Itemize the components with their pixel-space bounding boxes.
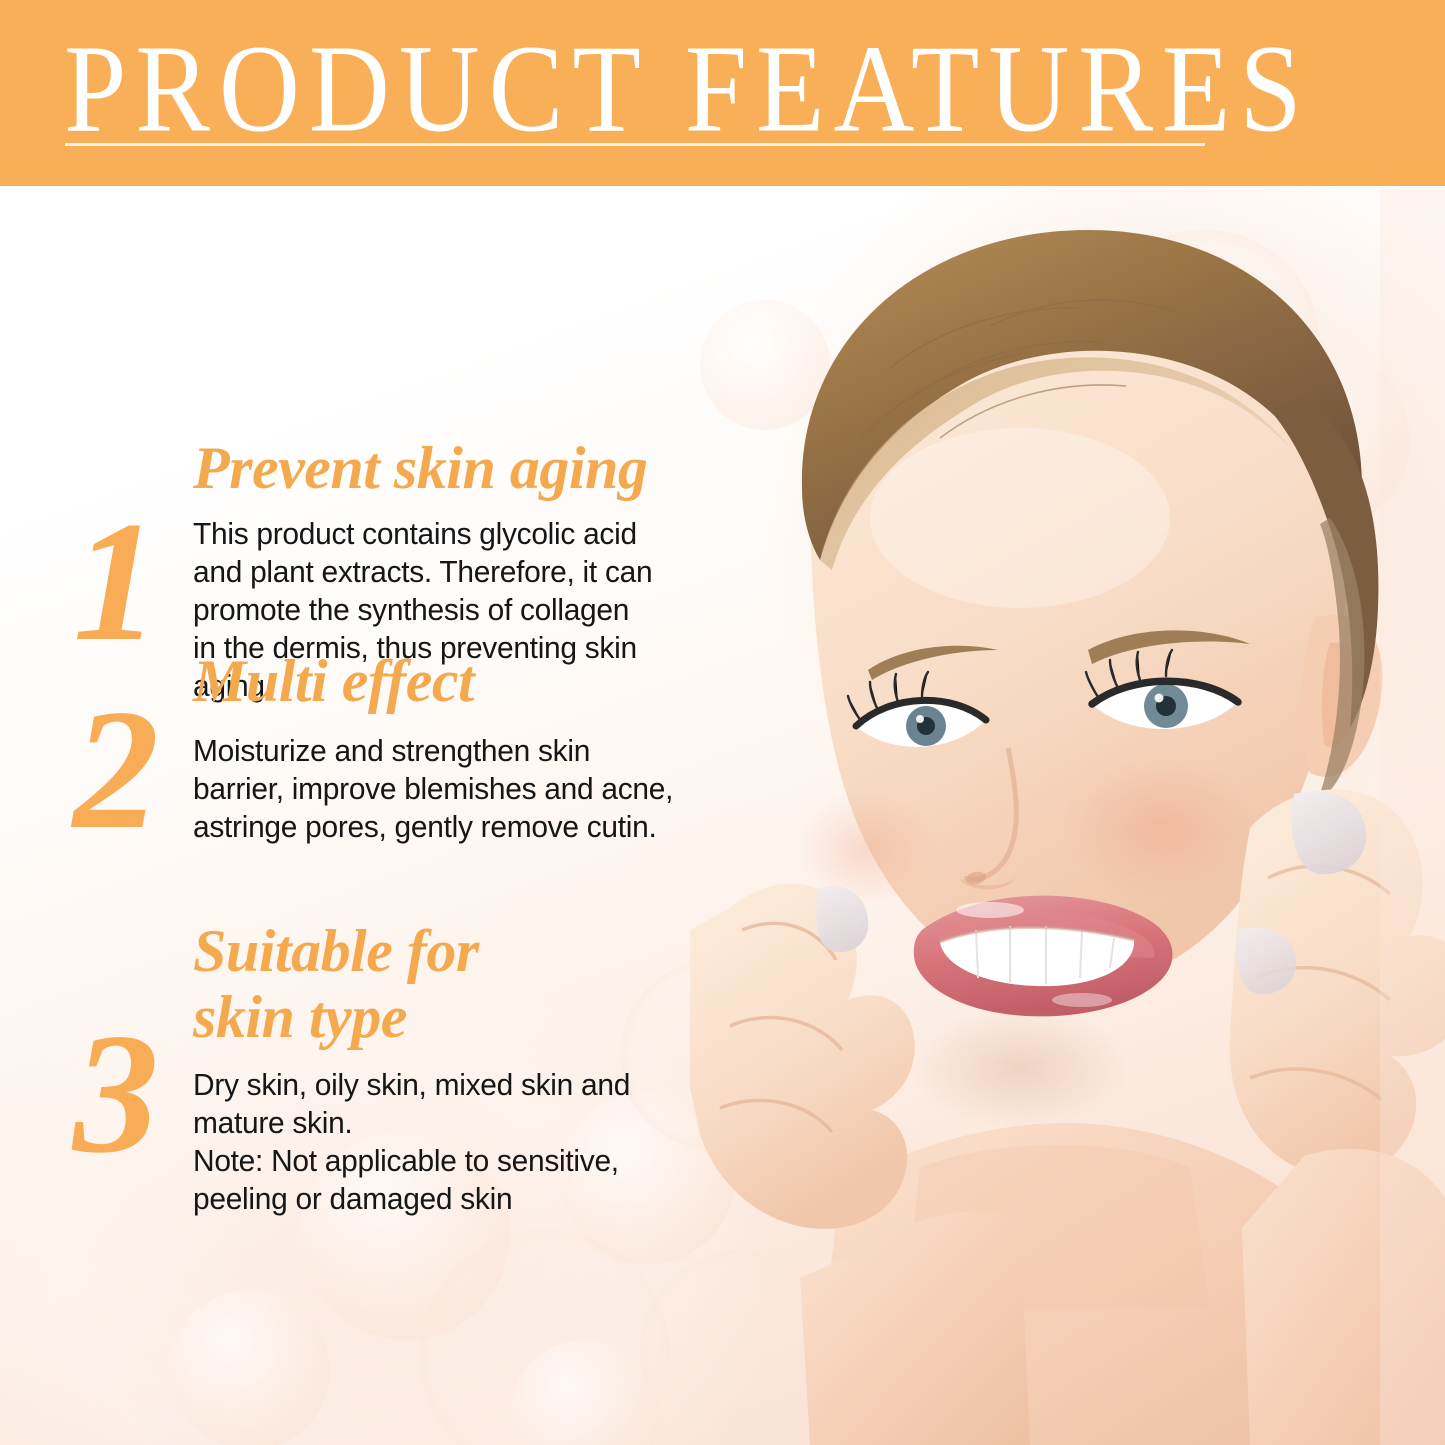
feature-heading-3-line-1: Suitable for [193, 918, 698, 984]
feature-content-2: Multi effect Moisturize and strengthen s… [193, 648, 698, 846]
feature-number-1: 1 [56, 496, 176, 668]
feature-description-line: This product contains glycolic acid [193, 515, 680, 553]
feature-heading-3-line-2: skin type [193, 984, 698, 1050]
page-title: PRODUCT FEATURES [64, 24, 1311, 154]
feature-number-3: 3 [56, 1008, 176, 1180]
feature-note-line: peeling or damaged skin [193, 1180, 680, 1218]
header-underline-rule [65, 143, 1205, 146]
feature-heading-2: Multi effect [193, 648, 698, 714]
feature-description-2: Moisturize and strengthen skin barrier, … [193, 732, 680, 846]
feature-description-line: Moisturize and strengthen skin [193, 732, 680, 770]
model-photo-illustration [690, 188, 1445, 1445]
feature-description-line: astringe pores, gently remove cutin. [193, 808, 680, 846]
feature-description-line: and plant extracts. Therefore, it can [193, 553, 680, 591]
product-features-infographic: PRODUCT FEATURES 1 Prevent skin aging Th… [0, 0, 1445, 1445]
feature-description-line: Dry skin, oily skin, mixed skin and [193, 1066, 680, 1104]
feature-number-2: 2 [56, 684, 176, 856]
feature-description-line: barrier, improve blemishes and acne, [193, 770, 680, 808]
feature-description-line: mature skin. [193, 1104, 680, 1142]
model-photo [690, 188, 1445, 1445]
feature-description-3: Dry skin, oily skin, mixed skin and matu… [193, 1066, 680, 1142]
feature-note-3: Note: Not applicable to sensitive, peeli… [193, 1142, 680, 1218]
header-band: PRODUCT FEATURES [0, 0, 1445, 186]
feature-heading-1: Prevent skin aging [193, 435, 698, 501]
feature-content-3: Suitable for skin type Dry skin, oily sk… [193, 918, 698, 1218]
feature-description-line: promote the synthesis of collagen [193, 591, 680, 629]
features-list: 1 Prevent skin aging This product contai… [0, 186, 720, 1445]
feature-note-line: Note: Not applicable to sensitive, [193, 1142, 680, 1180]
